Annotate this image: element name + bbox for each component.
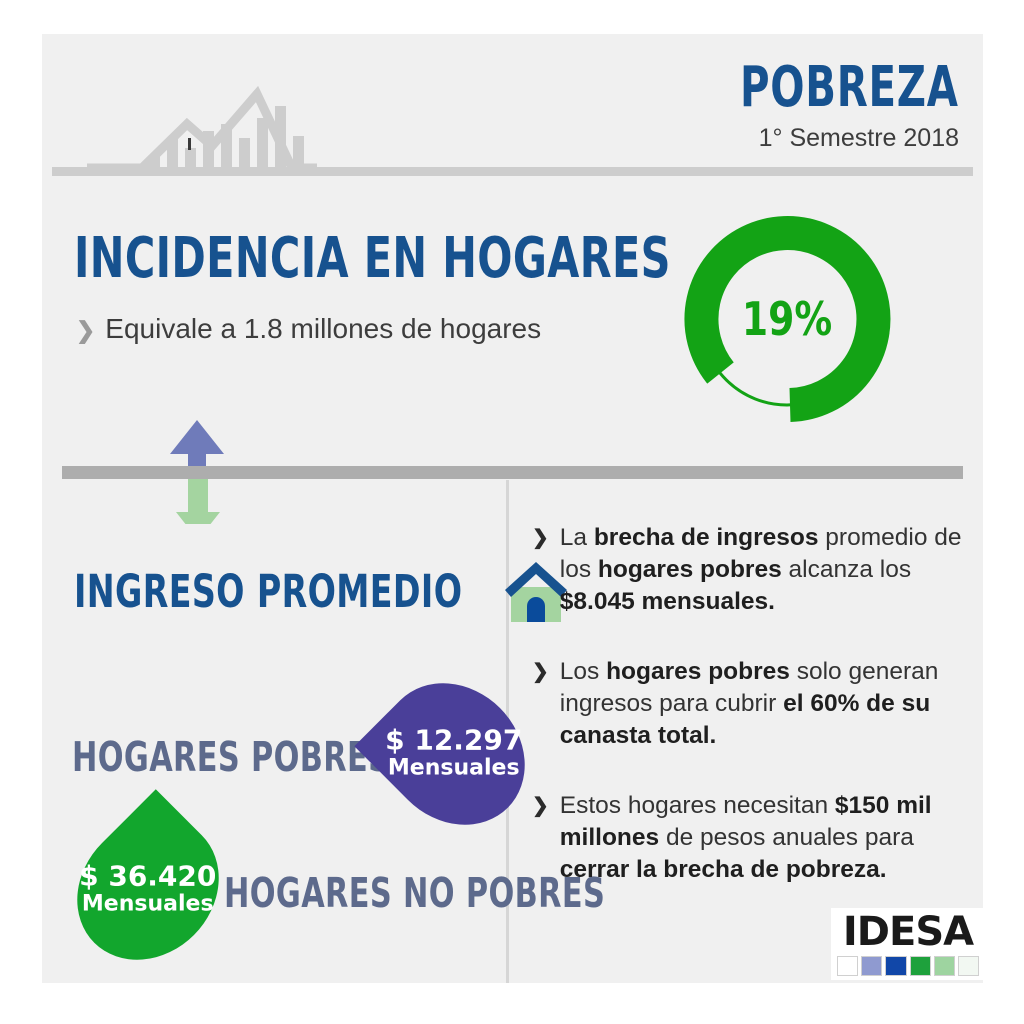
bullet-list: ❯ La brecha de ingresos promedio de los … — [532, 522, 962, 924]
chevron-right-icon: ❯ — [76, 313, 95, 347]
hogares-no-pobres-period: Mensuales — [79, 891, 216, 917]
hogares-pobres-label: HOGARES POBRES — [72, 735, 390, 779]
updown-arrows-icon — [138, 394, 258, 524]
main-divider — [62, 466, 963, 479]
idesa-logo: IDESA — [831, 908, 983, 980]
header-divider — [52, 167, 973, 176]
swatch — [837, 956, 858, 976]
bullet-item: ❯ Estos hogares necesitan $150 mil millo… — [532, 790, 962, 886]
chevron-right-icon: ❯ — [532, 790, 549, 886]
swatch — [861, 956, 882, 976]
ingreso-promedio-row: INGRESO PROMEDIO — [74, 562, 567, 622]
hogares-pobres-period: Mensuales — [385, 756, 522, 782]
hogares-pobres-amount: $ 12.297 — [385, 726, 522, 756]
chevron-right-icon: ❯ — [532, 522, 549, 618]
swatch — [958, 956, 979, 976]
bar-chart-line-icon — [87, 76, 317, 176]
ingreso-promedio-heading: INGRESO PROMEDIO — [74, 568, 462, 616]
bullet-text: Estos hogares necesitan $150 mil millone… — [560, 790, 962, 886]
swatch — [885, 956, 906, 976]
bullet-item: ❯ La brecha de ingresos promedio de los … — [532, 522, 962, 618]
page-subtitle: 1° Semestre 2018 — [655, 124, 959, 152]
bullet-text: La brecha de ingresos promedio de los ho… — [560, 522, 962, 618]
swatch — [934, 956, 955, 976]
incidencia-subtitle: Equivale a 1.8 millones de hogares — [105, 312, 541, 346]
donut-value-label: 19% — [693, 204, 882, 434]
idesa-swatches — [837, 956, 979, 976]
content-panel: POBREZA 1° Semestre 2018 INCIDENCIA EN H… — [42, 34, 983, 983]
page-title: POBREZA — [740, 60, 959, 116]
swatch — [910, 956, 931, 976]
bullet-item: ❯ Los hogares pobres solo generan ingres… — [532, 656, 962, 752]
hogares-no-pobres-amount: $ 36.420 — [79, 861, 216, 891]
donut-chart: 19% — [672, 204, 902, 434]
idesa-wordmark: IDESA — [837, 911, 979, 953]
chevron-right-icon: ❯ — [532, 656, 549, 752]
incidencia-heading: INCIDENCIA EN HOGARES — [74, 230, 671, 288]
incidencia-subtitle-row: ❯ Equivale a 1.8 millones de hogares — [76, 312, 541, 347]
infographic-page: POBREZA 1° Semestre 2018 INCIDENCIA EN H… — [0, 0, 1024, 1024]
bullet-text: Los hogares pobres solo generan ingresos… — [560, 656, 962, 752]
header-title-group: POBREZA 1° Semestre 2018 — [655, 60, 959, 152]
hogares-no-pobres-row: $ 36.420 Mensuales HOGARES NO POBRES — [72, 824, 542, 964]
